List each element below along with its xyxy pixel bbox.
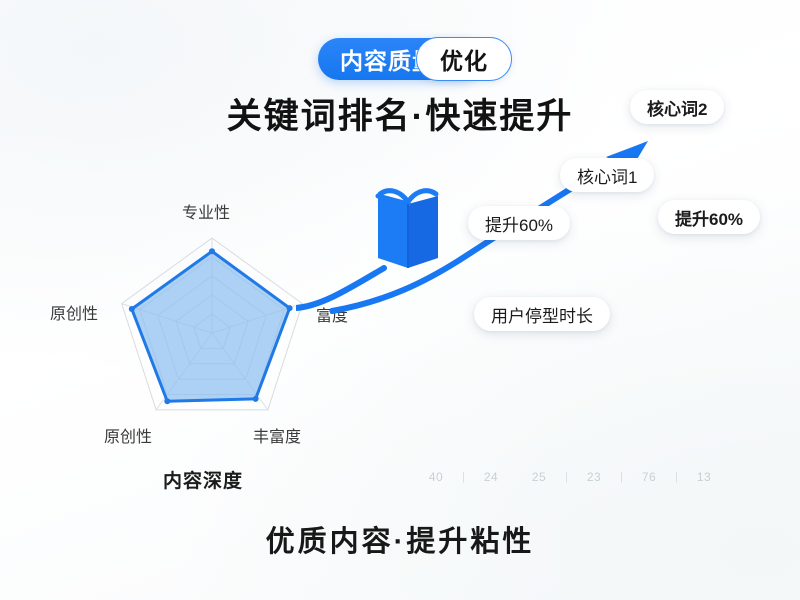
pill-uplift-right[interactable]: 提升60%: [658, 200, 760, 234]
radar-label-2: 丰富度: [253, 423, 301, 447]
axis-tick-0: 40: [412, 470, 460, 484]
radar-label-4: 原创性: [50, 300, 98, 324]
optimize-chip[interactable]: 优化: [416, 37, 512, 81]
axis-tick-1: 24: [467, 470, 515, 484]
axis-tick-sep: |: [563, 471, 570, 483]
axis-tick-3: 23: [570, 470, 618, 484]
pill-dwell-time[interactable]: 用户停型时长: [474, 297, 610, 331]
axis-tick-2: 25: [515, 470, 563, 484]
header-badge-wrap: 内容质量 优化: [0, 38, 800, 80]
axis-tick-5: 13: [680, 470, 728, 484]
axis-tick-sep: |: [460, 471, 467, 483]
content-depth-label: 内容深度: [163, 466, 243, 493]
axis-tick-4: 76: [625, 470, 673, 484]
radar-label-3: 原创性: [104, 423, 152, 447]
page-subtitle: 优质内容·提升粘性: [0, 518, 800, 560]
radar-series-area: [132, 251, 290, 401]
radar-chart: [20, 190, 360, 460]
pill-keyword-2[interactable]: 核心词2: [630, 90, 724, 124]
slide-canvas: 内容质量 优化 关键词排名·快速提升 优质内容·提升粘性: [0, 0, 800, 600]
radar-label-0: 专业性: [182, 199, 230, 223]
axis-tick-sep: |: [673, 471, 680, 483]
quality-badge[interactable]: 内容质量 优化: [318, 38, 482, 80]
pill-keyword-1[interactable]: 核心词1: [560, 158, 654, 192]
axis-tick-strip: 40 | 24 25 | 23 | 76 | 13: [412, 466, 772, 488]
axis-tick-sep: |: [618, 471, 625, 483]
open-book-icon: [372, 186, 444, 272]
pill-uplift-left[interactable]: 提升60%: [468, 206, 570, 240]
